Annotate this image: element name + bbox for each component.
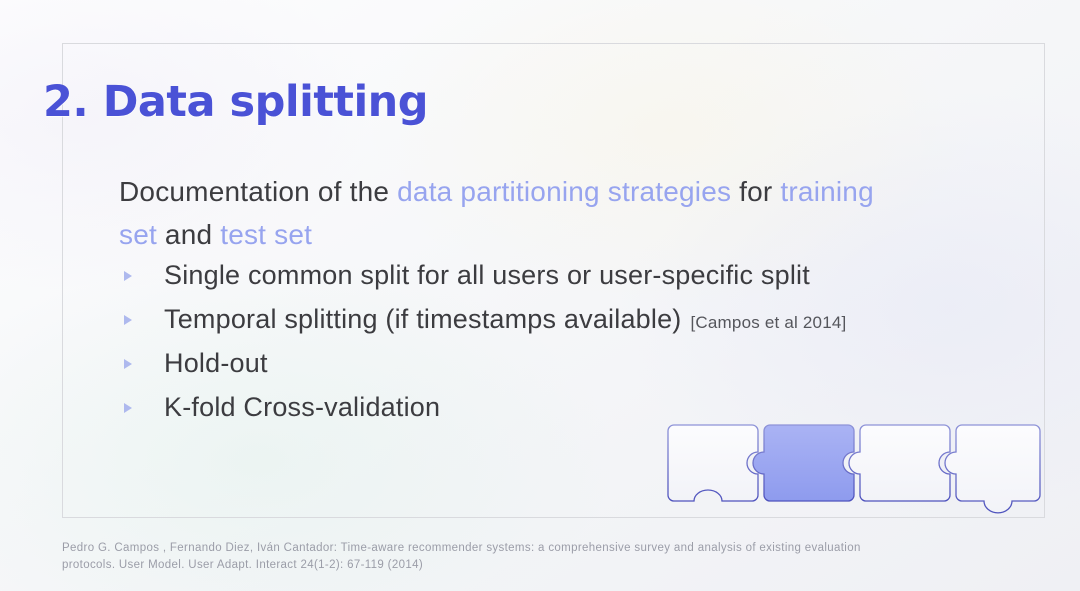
list-item-citation: [Campos et al 2014] xyxy=(691,313,847,333)
list-item-label: Temporal splitting (if timestamps availa… xyxy=(164,304,682,335)
bullet-list: Single common split for all users or use… xyxy=(120,260,1020,436)
lead-paragraph: Documentation of the data partitioning s… xyxy=(119,170,919,256)
list-item: Hold-out xyxy=(120,348,1020,392)
puzzle-piece-4 xyxy=(945,425,1040,513)
lead-text-part-2: for xyxy=(731,176,780,207)
puzzle-piece-2 xyxy=(753,425,854,501)
bullet-arrow-icon xyxy=(120,415,164,416)
lead-highlight-test-set: test set xyxy=(220,219,312,250)
footer-citation: Pedro G. Campos , Fernando Diez, Iván Ca… xyxy=(62,540,1017,574)
puzzle-piece-1 xyxy=(668,425,758,501)
list-item: Single common split for all users or use… xyxy=(120,260,1020,304)
lead-highlight-data-partitioning-strategies: data partitioning strategies xyxy=(397,176,731,207)
list-item: Temporal splitting (if timestamps availa… xyxy=(120,304,1020,348)
bullet-arrow-icon xyxy=(120,327,164,328)
bullet-arrow-icon xyxy=(120,283,164,284)
lead-text-part-1: Documentation of the xyxy=(119,176,397,207)
page-title: 2. Data splitting xyxy=(43,77,428,127)
list-item-label: K-fold Cross-validation xyxy=(164,392,440,423)
list-item-label: Single common split for all users or use… xyxy=(164,260,810,291)
list-item-label: Hold-out xyxy=(164,348,268,379)
footer-citation-line-2: protocols. User Model. User Adapt. Inter… xyxy=(62,557,1017,574)
footer-citation-line-1: Pedro G. Campos , Fernando Diez, Iván Ca… xyxy=(62,540,1017,557)
bullet-arrow-icon xyxy=(120,371,164,372)
puzzle-progress-graphic xyxy=(660,424,1045,524)
puzzle-piece-3 xyxy=(849,425,950,501)
slide-canvas: 2. Data splitting Documentation of the d… xyxy=(0,0,1080,591)
lead-text-part-3: and xyxy=(157,219,220,250)
